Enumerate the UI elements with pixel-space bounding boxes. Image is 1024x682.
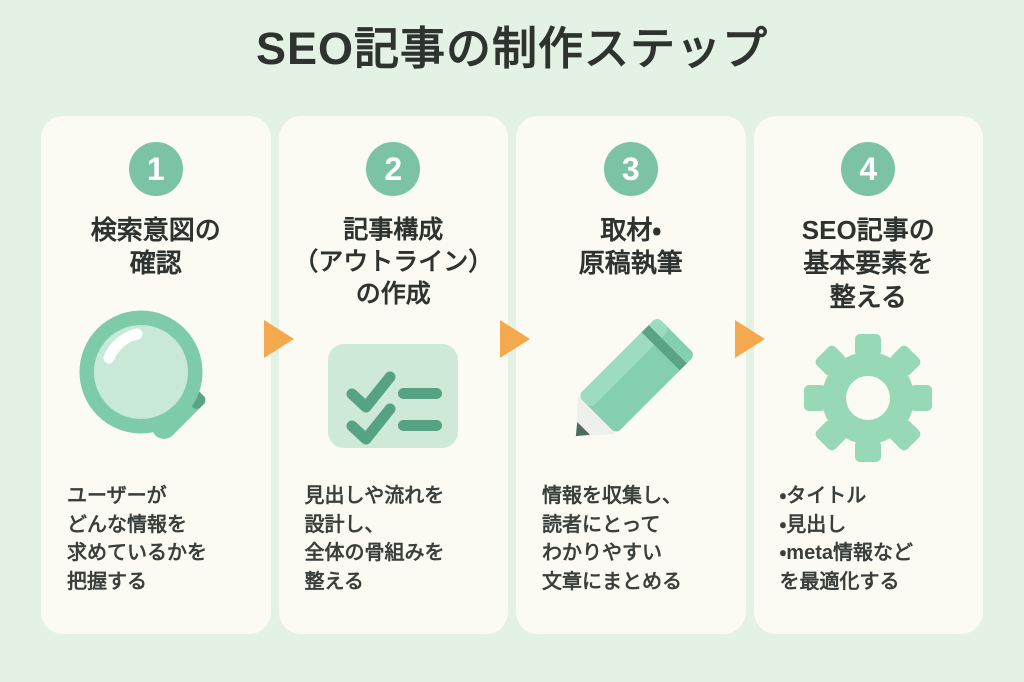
- step-number-badge-3: 3: [604, 142, 658, 196]
- checklist-icon: [328, 344, 458, 448]
- step-icon-wrap-3: [526, 281, 736, 483]
- step-card-3: 3 取材・ 原稿執筆: [516, 116, 746, 634]
- arrow-step-2-to-3: [498, 318, 532, 360]
- step-card-4: 4 SEO記事の 基本要素を 整える: [754, 116, 984, 634]
- step-heading-4: SEO記事の 基本要素を 整える: [802, 214, 935, 314]
- pencil-icon: [551, 306, 711, 456]
- step-body-4: ・タイトル ・見出し ・meta情報など を最適化する: [780, 482, 914, 596]
- step-body-1: ユーザーが どんな情報を 求めているかを 把握する: [67, 482, 207, 596]
- page-title: SEO記事の制作ステップ: [0, 22, 1024, 76]
- step-number-badge-4: 4: [841, 142, 895, 196]
- step-icon-wrap-1: [51, 281, 261, 483]
- step-heading-3: 取材・ 原稿執筆: [579, 214, 683, 281]
- step-heading-1: 検索意図の 確認: [91, 214, 221, 281]
- step-heading-2: 記事構成 （アウトライン） の作成: [293, 214, 493, 310]
- steps-container: 1 検索意図の 確認 ユーザーが どんな情報を 求: [41, 116, 983, 634]
- step-card-1: 1 検索意図の 確認 ユーザーが どんな情報を 求: [41, 116, 271, 634]
- step-icon-wrap-2: [289, 310, 499, 482]
- step-icon-wrap-4: [764, 314, 974, 483]
- step-body-2: 見出しや流れを 設計し、 全体の骨組みを 整える: [305, 482, 445, 596]
- step-card-2: 2 記事構成 （アウトライン） の作成 見出しや流れを 設計し、 全体の骨組みを…: [279, 116, 509, 634]
- gear-icon: [804, 334, 932, 462]
- arrow-step-1-to-2: [262, 318, 296, 360]
- magnifying-glass-icon: [71, 306, 241, 456]
- step-number-badge-2: 2: [366, 142, 420, 196]
- step-body-3: 情報を収集し、 読者にとって わかりやすい 文章にまとめる: [542, 482, 682, 596]
- step-number-badge-1: 1: [129, 142, 183, 196]
- arrow-step-3-to-4: [733, 318, 767, 360]
